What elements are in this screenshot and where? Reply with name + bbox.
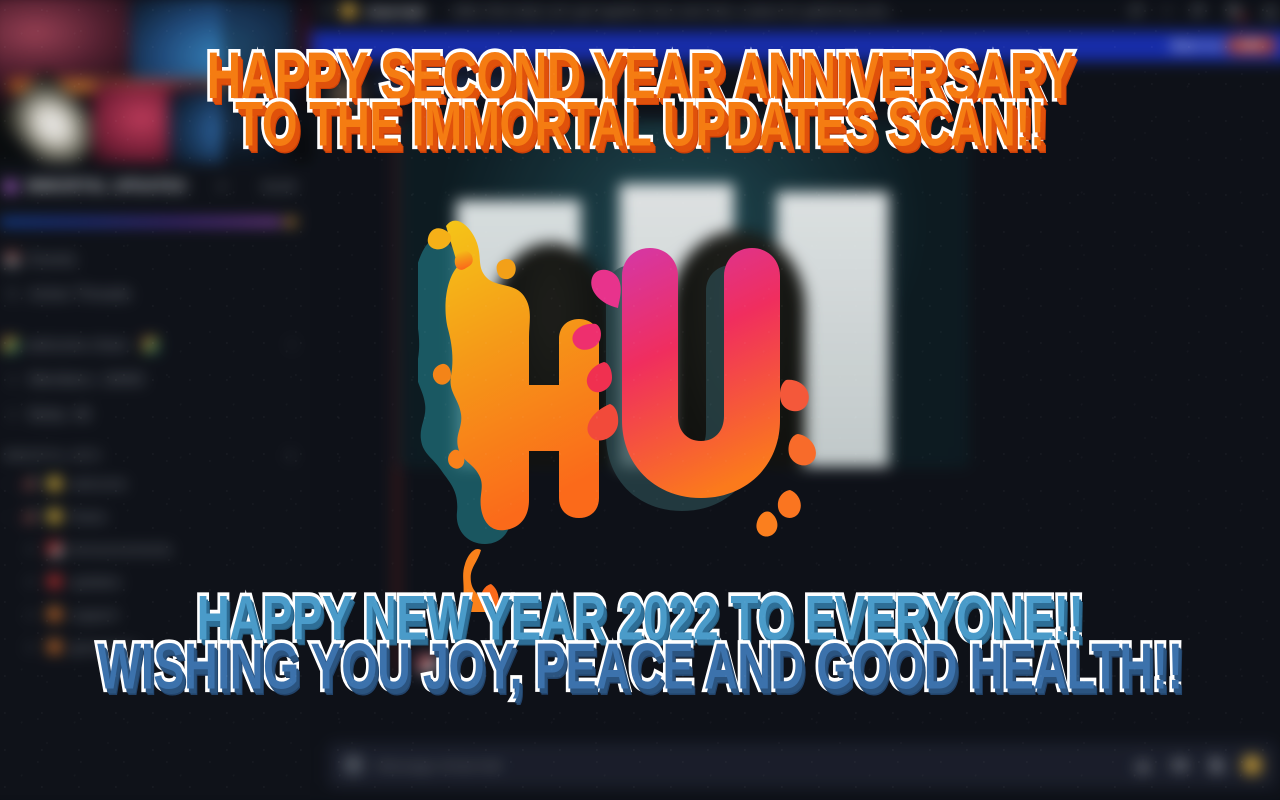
blue-headline: HAPPY NEW YEAR 2022 TO EVERYONE!! WISHIN… (0, 596, 1280, 693)
notification-bell-icon[interactable] (1223, 2, 1243, 20)
rgb-emoji-icon (4, 338, 18, 352)
threads-icon[interactable] (1127, 2, 1147, 20)
message-input-box[interactable]: + Message #chat-hall (328, 743, 1277, 788)
yellow-emoji-icon (342, 3, 357, 18)
divider (438, 1, 439, 21)
hash-icon: # (4, 406, 21, 423)
red-emoji-icon (47, 574, 61, 588)
sidebar-item-welcome[interactable]: › 📣 welcome (0, 467, 303, 500)
sidebar-item-active-threads[interactable]: ☰ Active Threads (0, 277, 303, 312)
server-name: IMMORTAL UPDATES (26, 178, 187, 195)
sidebar-item-label: Rules (70, 508, 107, 524)
calendar-icon: 📅 (4, 251, 21, 268)
chevron-right-icon[interactable]: › (4, 511, 14, 521)
hash-icon: # (22, 573, 39, 590)
sparkle-icon (4, 179, 18, 193)
threads-icon: ☰ (4, 285, 21, 302)
boost-bar-fill (0, 218, 281, 225)
hash-icon: # (22, 540, 39, 557)
pin-icon[interactable] (1187, 2, 1207, 20)
topbar-actions: 7 (1127, 2, 1280, 20)
boost-gem-icon (285, 218, 296, 225)
sticker-icon[interactable] (1205, 755, 1227, 775)
orange-headline-line2: TO THE IMMORTAL UPDATES SCAN!! (77, 96, 1203, 154)
sidebar-item-label: Members: 16000 (29, 371, 144, 388)
yellow-emoji-icon (47, 509, 61, 523)
members-icon[interactable] (1260, 2, 1280, 20)
yellow-emoji-icon (47, 477, 61, 491)
sidebar-item-label: Events (29, 251, 76, 268)
sidebar-item-announcements[interactable]: # announcements (0, 533, 303, 566)
sidebar-item-label: welcome-chars (26, 336, 129, 353)
message-composer: + Message #chat-hall (312, 743, 1280, 800)
channel-topbar: # chat-hall (IMs Chit-chat) Let's get to… (312, 0, 1280, 31)
message-input[interactable]: Message #chat-hall (377, 757, 1120, 773)
boost-bar-track (0, 218, 299, 225)
speaker-icon: 📣 (22, 475, 39, 492)
sidebar-item-boba[interactable]: # Boba: 48 (0, 397, 303, 432)
blue-headline-line2: WISHING YOU JOY, PEACE AND GOOD HEALTH!! (77, 638, 1203, 697)
rgb-emoji-icon (143, 338, 157, 352)
sidebar-item-label: announcements (70, 541, 172, 557)
screenshot-root: IMMORTAL UPDATES ▾ 16,116 📅 Events ☰ Act… (0, 0, 1280, 800)
orange-headline: HAPPY SECOND YEAR ANNIVERSARY TO THE IMM… (0, 52, 1280, 150)
channel-topic: (IMs Chit-chat) Let's get together here … (453, 3, 896, 18)
composer-actions (1132, 755, 1263, 775)
page-title: chat-hall (365, 3, 424, 19)
red-square-emoji-icon (47, 542, 61, 556)
sidebar-item-welcome-chars[interactable]: welcome-chars 2 (0, 328, 303, 363)
sidebar-item-label: updates (70, 573, 121, 589)
sidebar-item-members[interactable]: # Members: 16000 (0, 362, 303, 397)
plus-circle-icon[interactable]: + (342, 754, 364, 776)
hash-icon: # (324, 1, 334, 21)
gif-icon[interactable] (1168, 755, 1190, 775)
server-member-count: 16,116 (262, 180, 296, 192)
category-label: IMMORTAL INFO (4, 449, 101, 461)
chevron-right-icon[interactable]: › (4, 479, 14, 489)
channel-category-immortal-info[interactable]: IMMORTAL INFO + (0, 432, 303, 468)
sidebar-item-label: Boba: 48 (29, 406, 90, 423)
message-attachment-image[interactable]: Image (397, 121, 968, 468)
server-boost-progress[interactable] (0, 210, 312, 227)
sidebar-item-events[interactable]: 📅 Events (0, 242, 303, 277)
sidebar-item-rules[interactable]: › 📣 Rules (0, 500, 303, 533)
chevron-down-icon[interactable]: ▾ (219, 180, 225, 193)
sidebar-item-tail: 2 (289, 339, 295, 351)
server-header[interactable]: IMMORTAL UPDATES ▾ 16,116 (0, 163, 312, 210)
hash-icon: # (4, 371, 21, 388)
sidebar-item-label: Active Threads (29, 285, 131, 302)
emoji-icon[interactable] (1242, 755, 1262, 775)
member-count: 7 (1164, 4, 1171, 18)
notification-badge (1238, 13, 1247, 22)
speaker-icon: 📣 (22, 508, 39, 525)
plus-icon[interactable]: + (287, 448, 295, 463)
gift-icon[interactable] (1132, 755, 1154, 775)
sidebar-item-label: welcome (70, 475, 126, 491)
